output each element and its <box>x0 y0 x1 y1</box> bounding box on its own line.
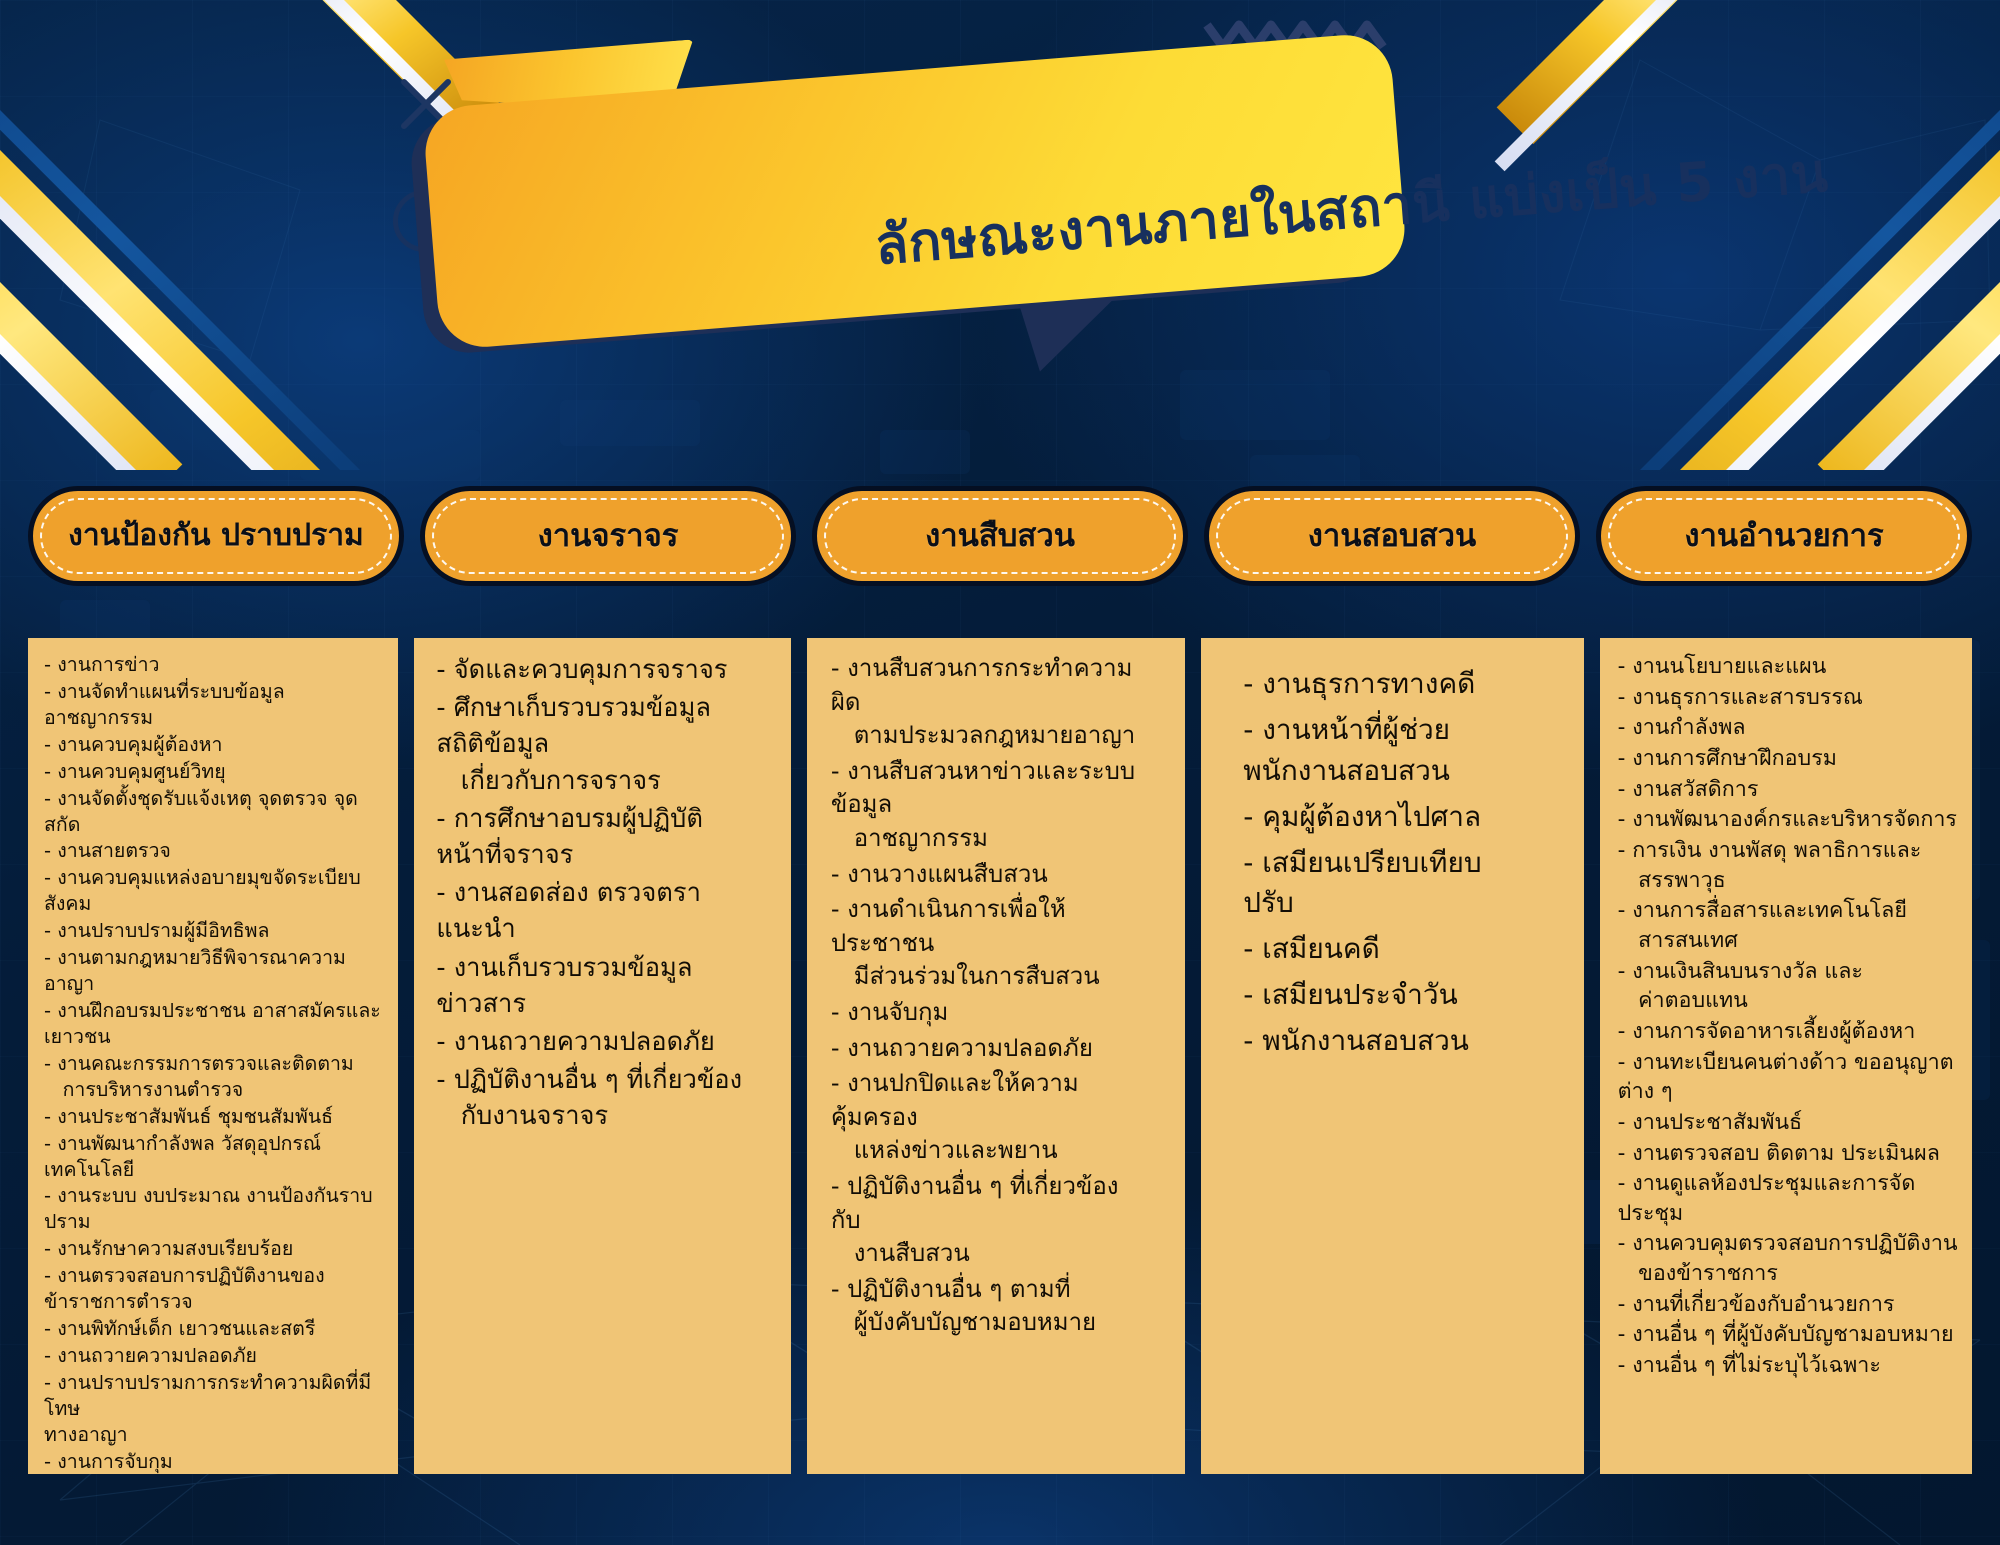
slide-canvas: ลักษณะงานภายในสถานี แบ่งเป็น 5 งาน งานป้… <box>0 0 2000 1545</box>
duty-list: - งานสืบสวนการกระทำความ ผิด ตามประมวลกฎห… <box>831 652 1173 1340</box>
duty-list-item: - งานจัดตั้งชุดรับแจ้งเหตุ จุดตรวจ จุดสก… <box>44 786 386 838</box>
duty-list-item: - งานการศึกษาฝึกอบรม <box>1618 744 1960 774</box>
duty-list-item: - งานควบคุมศูนย์วิทยุ <box>44 759 386 785</box>
duty-list-item: - งานสอดส่อง ตรวจตรา แนะนำ <box>436 875 778 947</box>
category-pill-inquiry[interactable]: งานสอบสวน <box>1204 486 1580 586</box>
duty-list-item: - งานถวายความปลอดภัย <box>436 1024 778 1060</box>
category-pill-label: งานอำนวยการ <box>1684 518 1883 555</box>
title-banner: ลักษณะงานภายในสถานี แบ่งเป็น 5 งาน <box>410 34 1570 334</box>
duty-list-item: - เสมียนประจำวัน <box>1229 975 1571 1016</box>
category-pill-investigation[interactable]: งานสืบสวน <box>812 486 1188 586</box>
duty-list-item: - งานอื่น ๆ ที่ไม่ระบุไว้เฉพาะ <box>1618 1351 1960 1381</box>
category-pill-label: งานป้องกัน ปราบปราม <box>68 518 364 553</box>
duty-list: - งานนโยบายและแผน- งานธุรการและสารบรรณ- … <box>1618 652 1960 1381</box>
content-card-inquiry: - งานธุรการทางคดี- งานหน้าที่ผู้ช่วย พนั… <box>1201 638 1583 1474</box>
duty-list-item: - ปฏิบัติงานอื่น ๆ ตามที่ ผู้บังคับบัญชา… <box>831 1273 1173 1340</box>
duty-list-item: - งานจัดทำแผนที่ระบบข้อมูลอาชญากรรม <box>44 679 386 731</box>
duty-list-item: - งานการจับกุม <box>44 1449 386 1474</box>
duty-list-item: - งานกำลังพล <box>1618 713 1960 743</box>
duty-list-item: - งานถวายความปลอดภัย <box>831 1032 1173 1066</box>
duty-list-item: - พนักงานสอบสวน <box>1229 1021 1571 1062</box>
category-pill-traffic[interactable]: งานจราจร <box>420 486 796 586</box>
duty-list-item: - งานพิทักษ์เด็ก เยาวชนและสตรี <box>44 1316 386 1342</box>
duty-list-item: - การศึกษาอบรมผู้ปฏิบัติ หน้าที่จราจร <box>436 801 778 873</box>
duty-list-item: - งานดูแลห้องประชุมและการจัด ประชุม <box>1618 1169 1960 1228</box>
duty-list-item: - งานตามกฎหมายวิธีพิจารณาความอาญา <box>44 945 386 997</box>
duty-list-item: - เสมียนเปรียบเทียบ ปรับ <box>1229 843 1571 925</box>
category-pill-label: งานสอบสวน <box>1308 518 1476 555</box>
duty-list: - งานธุรการทางคดี- งานหน้าที่ผู้ช่วย พนั… <box>1229 664 1571 1062</box>
duty-list-item: - งานวางแผนสืบสวน <box>831 858 1173 892</box>
duty-list-item: - งานพัฒนาองค์กรและบริหารจัดการ <box>1618 805 1960 835</box>
category-pill-label: งานสืบสวน <box>925 518 1075 555</box>
duty-list-item: - งานตรวจสอบการปฏิบัติงานของ ข้าราชการตำ… <box>44 1263 386 1315</box>
duty-list-item: - งานทะเบียนคนต่างด้าว ขออนุญาต ต่าง ๆ <box>1618 1048 1960 1107</box>
duty-list-item: - งานฝึกอบรมประชาชน อาสาสมัครและ เยาวชน <box>44 998 386 1050</box>
content-card-investigation: - งานสืบสวนการกระทำความ ผิด ตามประมวลกฎห… <box>807 638 1185 1474</box>
duty-list-item: - งานการจัดอาหารเลี้ยงผู้ต้องหา <box>1618 1017 1960 1047</box>
category-pill-prevention[interactable]: งานป้องกัน ปราบปราม <box>28 486 404 586</box>
duty-list-item: - งานการข่าว <box>44 652 386 678</box>
duty-list-item: - งานตรวจสอบ ติดตาม ประเมินผล <box>1618 1139 1960 1169</box>
duty-list-item: - งานหน้าที่ผู้ช่วย พนักงานสอบสวน <box>1229 710 1571 792</box>
duty-list-item: - งานเงินสินบนรางวัล และ ค่าตอบแทน <box>1618 957 1960 1016</box>
duty-list-item: - งานพัฒนากำลังพล วัสดุอุปกรณ์ เทคโนโลยี <box>44 1131 386 1183</box>
duty-list: - งานการข่าว- งานจัดทำแผนที่ระบบข้อมูลอา… <box>44 652 386 1474</box>
duty-list-item: - เสมียนคดี <box>1229 929 1571 970</box>
duty-list-item: - งานอื่น ๆ ที่ผู้บังคับบัญชามอบหมาย <box>1618 1320 1960 1350</box>
duty-list-item: - งานการสื่อสารและเทคโนโลยี สารสนเทศ <box>1618 896 1960 955</box>
duty-list-item: - งานสืบสวนหาข่าวและระบบ ข้อมูล อาชญากรร… <box>831 755 1173 856</box>
duty-list-item: - งานควบคุมผู้ต้องหา <box>44 732 386 758</box>
content-card-row: - งานการข่าว- งานจัดทำแผนที่ระบบข้อมูลอา… <box>28 638 1972 1474</box>
duty-list-item: - งานธุรการทางคดี <box>1229 664 1571 705</box>
duty-list-item: - งานนโยบายและแผน <box>1618 652 1960 682</box>
duty-list-item: - งานสืบสวนการกระทำความ ผิด ตามประมวลกฎห… <box>831 652 1173 753</box>
duty-list-item: - งานปราบปรามการกระทำความผิดที่มีโทษ ทาง… <box>44 1370 386 1448</box>
duty-list-item: - งานประชาสัมพันธ์ ชุมชนสัมพันธ์ <box>44 1104 386 1130</box>
duty-list-item: - งานปกปิดและให้ความ คุ้มครอง แหล่งข่าวแ… <box>831 1067 1173 1168</box>
duty-list-item: - งานสายตรวจ <box>44 838 386 864</box>
duty-list: - จัดและควบคุมการจราจร- ศึกษาเก็บรวบรวมข… <box>436 652 778 1135</box>
content-card-administration: - งานนโยบายและแผน- งานธุรการและสารบรรณ- … <box>1600 638 1972 1474</box>
duty-list-item: - งานจับกุม <box>831 996 1173 1030</box>
duty-list-item: - จัดและควบคุมการจราจร <box>436 652 778 688</box>
duty-list-item: - งานถวายความปลอดภัย <box>44 1343 386 1369</box>
duty-list-item: - งานสวัสดิการ <box>1618 775 1960 805</box>
duty-list-item: - งานที่เกี่ยวข้องกับอำนวยการ <box>1618 1290 1960 1320</box>
duty-list-item: - ปฏิบัติงานอื่น ๆ ที่เกี่ยวข้อง กับงานจ… <box>436 1062 778 1134</box>
duty-list-item: - งานดำเนินการเพื่อให้ ประชาชน มีส่วนร่ว… <box>831 893 1173 994</box>
duty-list-item: - งานธุรการและสารบรรณ <box>1618 683 1960 713</box>
category-pill-administration[interactable]: งานอำนวยการ <box>1596 486 1972 586</box>
duty-list-item: - งานเก็บรวบรวมข้อมูล ข่าวสาร <box>436 950 778 1022</box>
duty-list-item: - ศึกษาเก็บรวบรวมข้อมูล สถิติข้อมูล เกี่… <box>436 690 778 799</box>
duty-list-item: - งานควบคุมแหล่งอบายมุขจัดระเบียบสังคม <box>44 865 386 917</box>
duty-list-item: - งานควบคุมตรวจสอบการปฏิบัติงาน ของข้ารา… <box>1618 1229 1960 1288</box>
duty-list-item: - งานปราบปรามผู้มีอิทธิพล <box>44 918 386 944</box>
duty-list-item: - การเงิน งานพัสดุ พลาธิการและ สรรพาวุธ <box>1618 836 1960 895</box>
duty-list-item: - งานคณะกรรมการตรวจและติดตาม การบริหารงา… <box>44 1051 386 1103</box>
category-pill-label: งานจราจร <box>538 518 679 555</box>
content-card-traffic: - จัดและควบคุมการจราจร- ศึกษาเก็บรวบรวมข… <box>414 638 790 1474</box>
duty-list-item: - งานประชาสัมพันธ์ <box>1618 1108 1960 1138</box>
content-card-prevention: - งานการข่าว- งานจัดทำแผนที่ระบบข้อมูลอา… <box>28 638 398 1474</box>
duty-list-item: - งานระบบ งบประมาณ งานป้องกันราบ ปราม <box>44 1183 386 1235</box>
duty-list-item: - ปฏิบัติงานอื่น ๆ ที่เกี่ยวข้อง กับ งาน… <box>831 1170 1173 1271</box>
category-pill-row: งานป้องกัน ปราบปราม งานจราจร งานสืบสวน ง… <box>28 486 1972 586</box>
duty-list-item: - คุมผู้ต้องหาไปศาล <box>1229 797 1571 838</box>
duty-list-item: - งานรักษาความสงบเรียบร้อย <box>44 1236 386 1262</box>
